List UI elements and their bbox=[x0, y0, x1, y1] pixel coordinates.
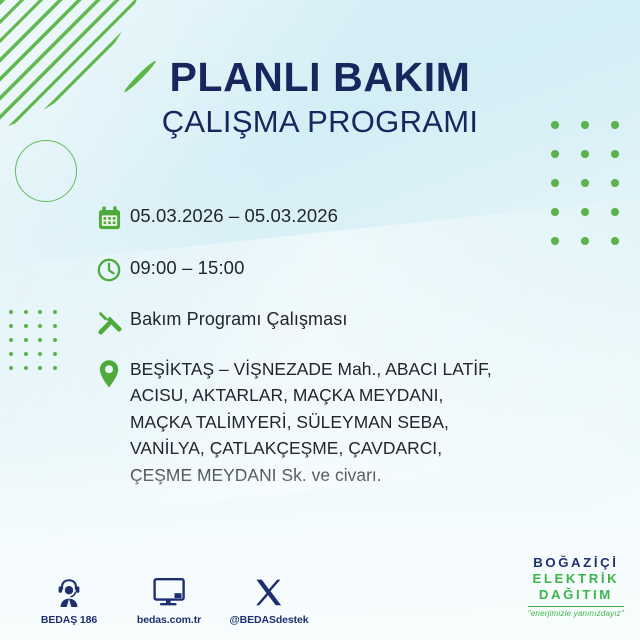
decorative-dot bbox=[38, 338, 42, 342]
info-row-time: 09:00 – 15:00 bbox=[88, 250, 600, 288]
x-twitter-icon bbox=[254, 574, 284, 608]
decorative-dot bbox=[9, 366, 13, 370]
decorative-dot bbox=[24, 310, 28, 314]
decorative-dot bbox=[611, 237, 619, 245]
decorative-dot bbox=[53, 366, 57, 370]
decorative-dot bbox=[9, 352, 13, 356]
decorative-dot bbox=[551, 150, 559, 158]
tools-icon bbox=[88, 302, 130, 340]
decorative-dot bbox=[581, 179, 589, 187]
contact-phone-label: BEDAŞ 186 bbox=[41, 614, 97, 626]
location-address: BEŞİKTAŞ – VİŞNEZADE Mah., ABACI LATİF, … bbox=[130, 354, 492, 488]
info-row-work-type: Bakım Programı Çalışması bbox=[88, 302, 600, 340]
brand-logo: BOĞAZİÇİ ELEKTRİK DAĞITIM "enerjimizle y… bbox=[528, 555, 624, 618]
poster-header: PLANLI BAKIM ÇALIŞMA PROGRAMI bbox=[0, 56, 640, 138]
decorative-dot bbox=[38, 366, 42, 370]
address-line: MAÇKA TALİMYERİ, SÜLEYMAN SEBA, bbox=[130, 409, 492, 435]
work-type-value: Bakım Programı Çalışması bbox=[130, 302, 347, 329]
location-pin-icon bbox=[88, 354, 130, 392]
decorative-dot bbox=[24, 352, 28, 356]
decorative-dot bbox=[611, 179, 619, 187]
address-line: ACISU, AKTARLAR, MAÇKA MEYDANI, bbox=[130, 382, 492, 408]
calendar-icon bbox=[88, 198, 130, 236]
date-range-value: 05.03.2026 – 05.03.2026 bbox=[130, 198, 338, 225]
decorative-dot bbox=[24, 324, 28, 328]
page-subtitle: ÇALIŞMA PROGRAMI bbox=[0, 105, 640, 138]
time-range-value: 09:00 – 15:00 bbox=[130, 250, 244, 277]
decorative-dot bbox=[53, 352, 57, 356]
decorative-dot bbox=[53, 324, 57, 328]
page-title: PLANLI BAKIM bbox=[0, 56, 640, 99]
decorative-dot bbox=[38, 324, 42, 328]
decorative-dot bbox=[9, 338, 13, 342]
decorative-dot bbox=[611, 208, 619, 216]
brand-divider bbox=[528, 606, 624, 607]
circle-outline-decoration bbox=[15, 140, 77, 202]
decorative-dot bbox=[611, 150, 619, 158]
brand-line-bogazici: BOĞAZİÇİ bbox=[528, 555, 624, 571]
brand-line-elektrik: ELEKTRİK bbox=[528, 571, 624, 587]
decorative-dot bbox=[38, 352, 42, 356]
dot-grid-left-decoration bbox=[9, 310, 67, 380]
decorative-dot bbox=[24, 366, 28, 370]
brand-tagline: "enerjimizle yanınızdayız" bbox=[528, 609, 624, 618]
decorative-dot bbox=[24, 338, 28, 342]
info-row-date: 05.03.2026 – 05.03.2026 bbox=[88, 198, 600, 236]
footer-contacts: BEDAŞ 186 bedas.com.tr @BEDASdestek bbox=[30, 574, 308, 626]
info-row-location: BEŞİKTAŞ – VİŞNEZADE Mah., ABACI LATİF, … bbox=[88, 354, 600, 488]
info-list: 05.03.2026 – 05.03.2026 09:00 – 15:00 bbox=[88, 198, 600, 502]
clock-icon bbox=[88, 250, 130, 288]
brand-line-dagitim: DAĞITIM bbox=[528, 587, 624, 603]
headset-support-icon bbox=[54, 574, 84, 608]
contact-website[interactable]: bedas.com.tr bbox=[130, 574, 208, 626]
decorative-dot bbox=[581, 150, 589, 158]
decorative-dot bbox=[53, 338, 57, 342]
contact-website-label: bedas.com.tr bbox=[137, 614, 201, 626]
poster-canvas: PLANLI BAKIM ÇALIŞMA PROGRAMI bbox=[0, 0, 640, 640]
address-line: BEŞİKTAŞ – VİŞNEZADE Mah., ABACI LATİF, bbox=[130, 356, 492, 382]
decorative-dot bbox=[9, 324, 13, 328]
contact-phone[interactable]: BEDAŞ 186 bbox=[30, 574, 108, 626]
decorative-dot bbox=[9, 310, 13, 314]
decorative-dot bbox=[53, 310, 57, 314]
contact-x-social[interactable]: @BEDASdestek bbox=[230, 574, 308, 626]
address-line: VANİLYA, ÇATLAKÇEŞME, ÇAVDARCI, bbox=[130, 435, 492, 461]
decorative-dot bbox=[551, 179, 559, 187]
address-line: ÇEŞME MEYDANI Sk. ve civarı. bbox=[130, 462, 492, 488]
monitor-website-icon bbox=[153, 574, 186, 608]
contact-x-label: @BEDASdestek bbox=[229, 614, 308, 626]
decorative-dot bbox=[38, 310, 42, 314]
